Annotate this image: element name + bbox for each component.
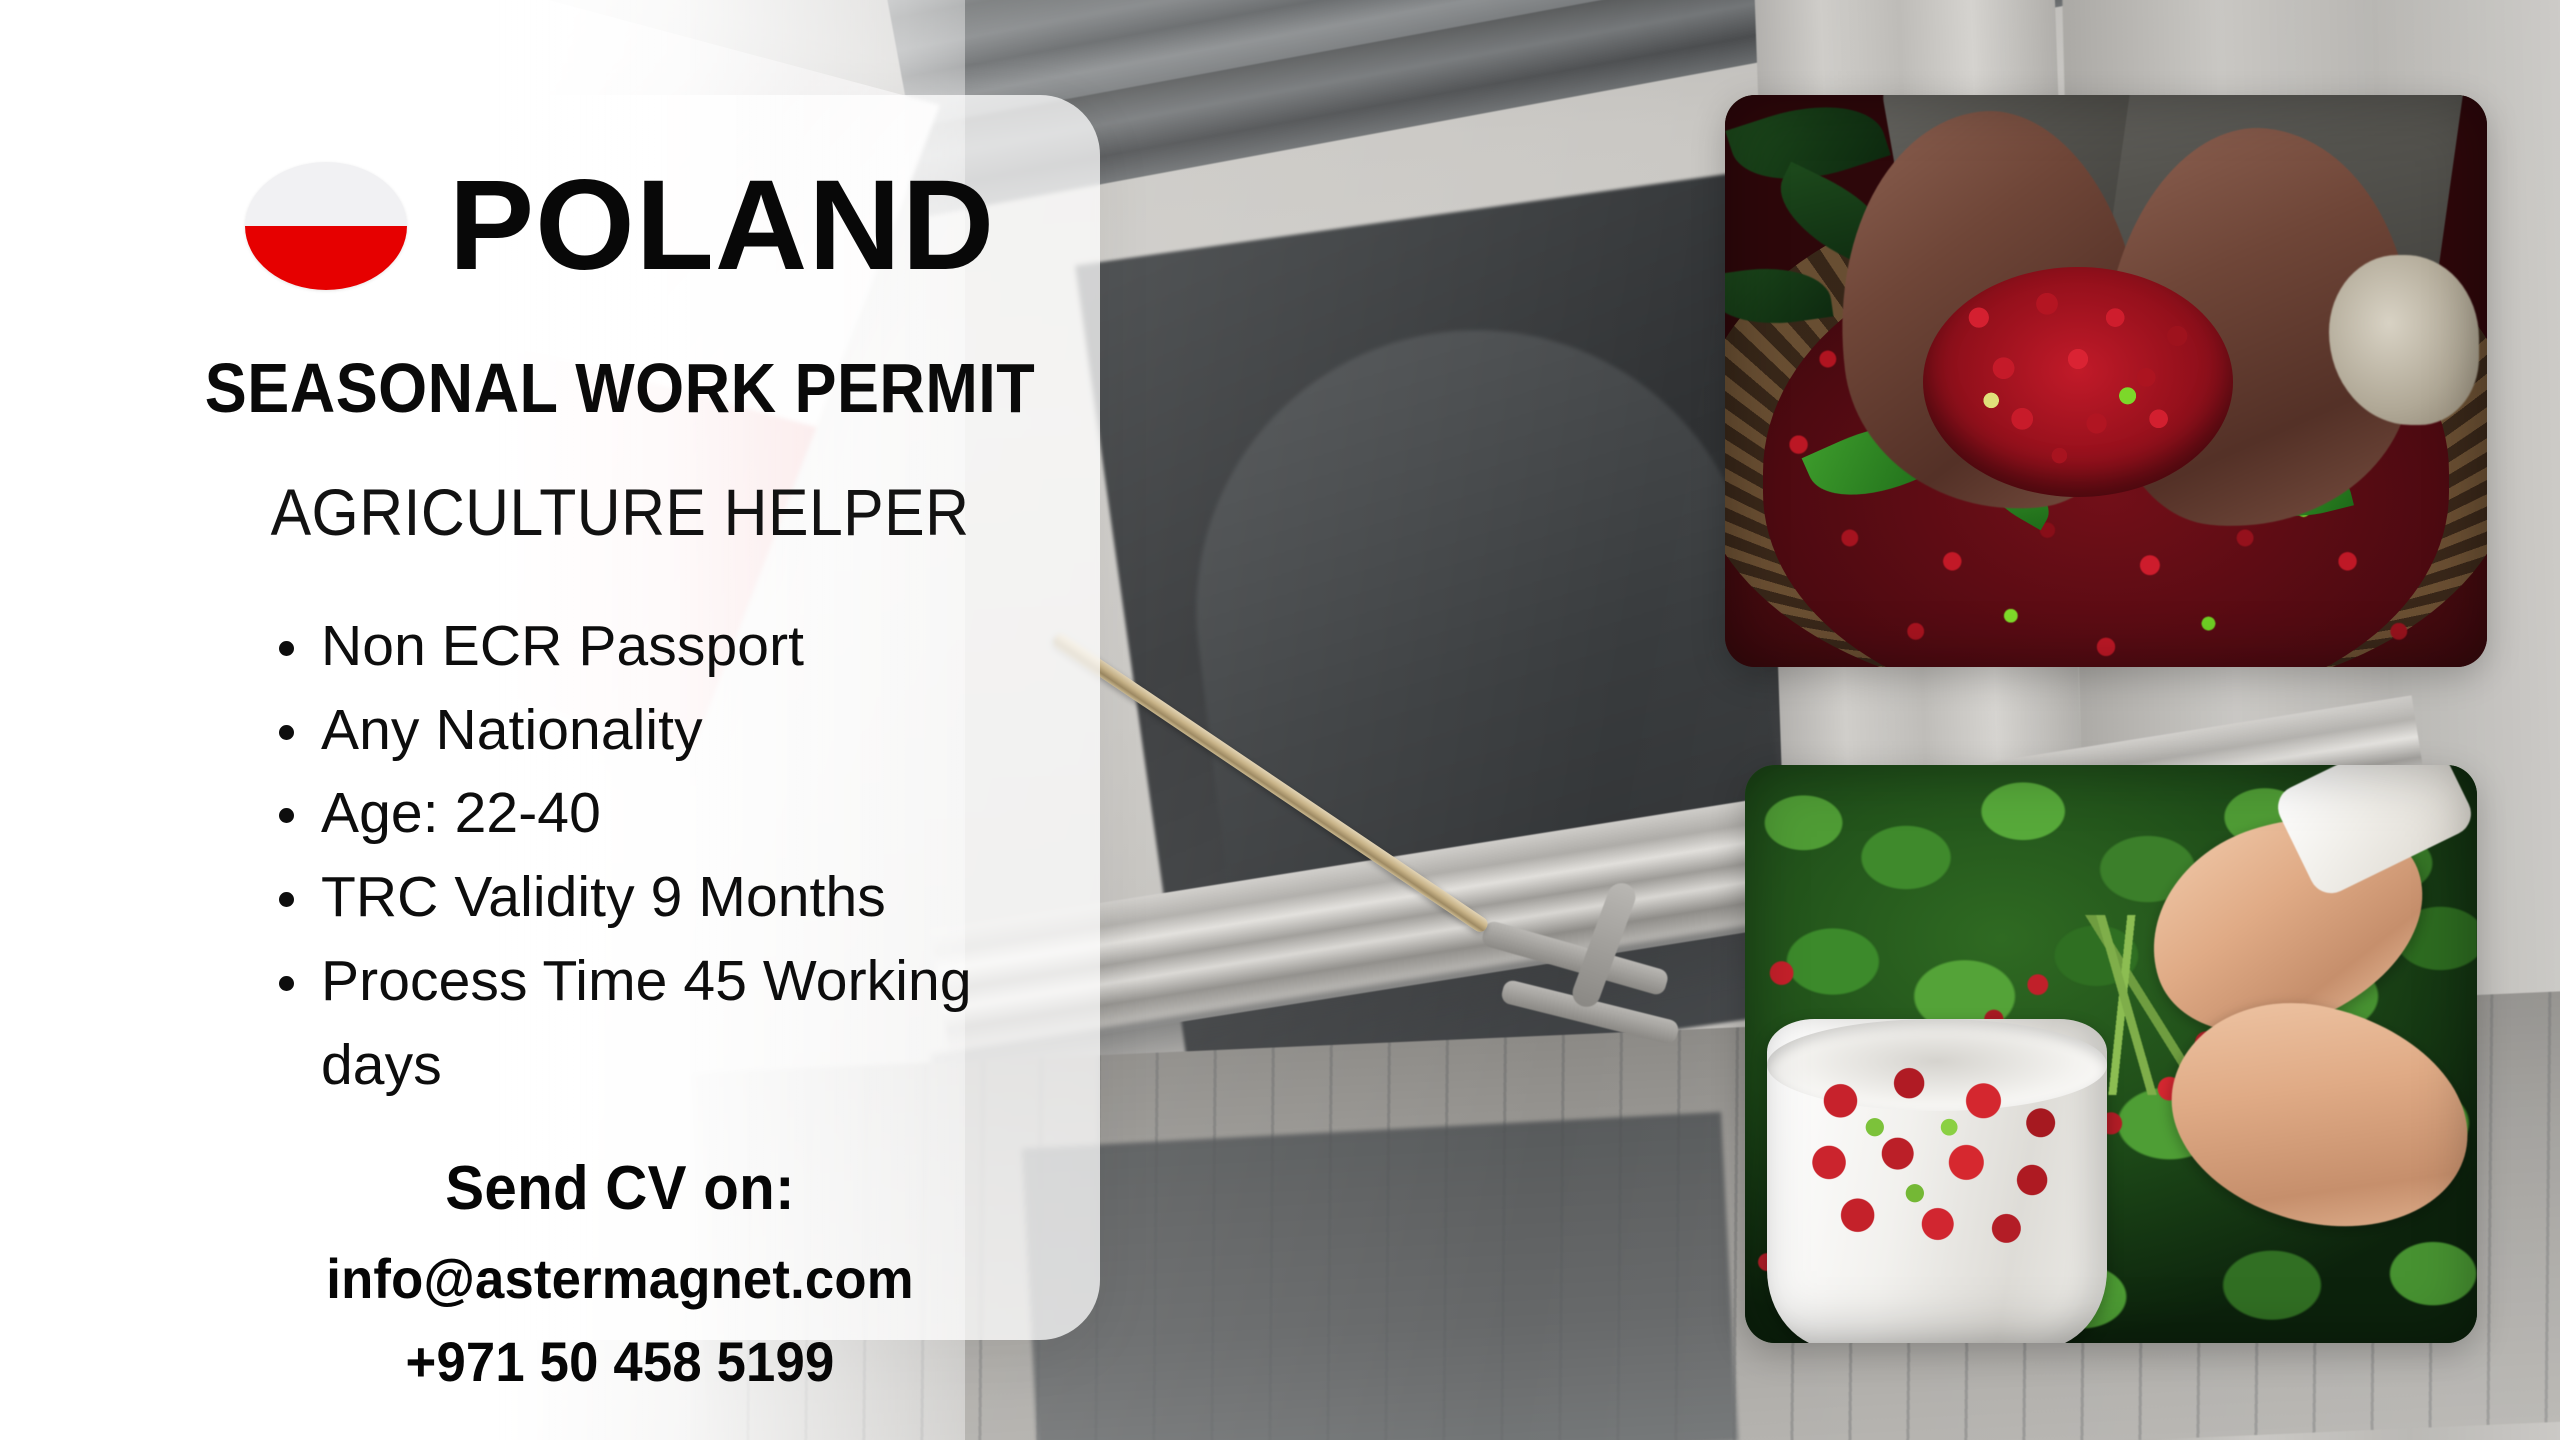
contact-phone[interactable]: +971 50 458 5199 xyxy=(150,1329,1090,1394)
page-title: POLAND xyxy=(449,162,995,290)
coffee-cherry-harvest-photo xyxy=(1725,95,2487,667)
list-item: Process Time 45 Working days xyxy=(265,940,1025,1108)
list-item: TRC Validity 9 Months xyxy=(265,856,1025,940)
coffee-photo-inner xyxy=(1725,95,2487,667)
flag-circle-red-half xyxy=(245,226,407,290)
cupped-cherries xyxy=(1923,267,2233,497)
facade-lower-wall-shadow xyxy=(1022,1112,1738,1440)
flag-circle-white-half xyxy=(245,162,407,226)
list-item: Any Nationality xyxy=(265,689,1025,773)
poland-flag-circle-icon xyxy=(245,162,407,290)
job-role-label: AGRICULTURE HELPER xyxy=(160,478,1080,547)
list-item: Non ECR Passport xyxy=(265,605,1025,689)
send-cv-label: Send CV on: xyxy=(150,1153,1090,1224)
list-item: Age: 22-40 xyxy=(265,772,1025,856)
requirements-list: Non ECR Passport Any Nationality Age: 22… xyxy=(265,605,1025,1108)
strawberry-picking-photo xyxy=(1745,765,2477,1343)
poster-subtitle: SEASONAL WORK PERMIT xyxy=(170,352,1070,426)
strawberry-photo-inner xyxy=(1745,765,2477,1343)
poster-content: POLAND SEASONAL WORK PERMIT AGRICULTURE … xyxy=(120,100,1120,1394)
poster-canvas: POLAND SEASONAL WORK PERMIT AGRICULTURE … xyxy=(0,0,2560,1440)
contact-email[interactable]: info@astermagnet.com xyxy=(150,1246,1090,1311)
title-row: POLAND xyxy=(120,162,1120,290)
